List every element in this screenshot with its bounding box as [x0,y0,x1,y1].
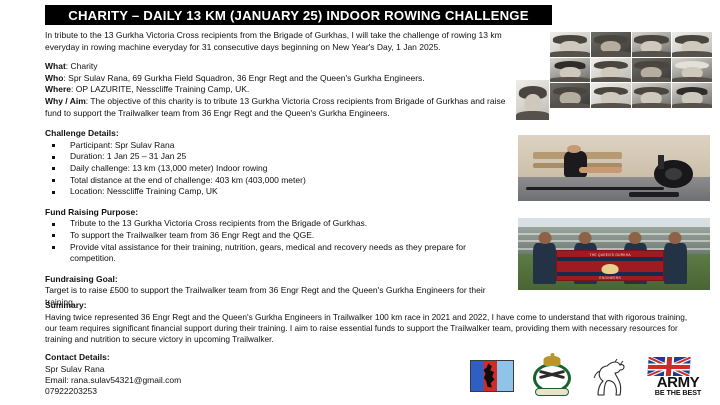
athlete-legs [579,167,621,173]
invicta-white-horse-icon [588,358,630,398]
vc-portrait [550,83,590,108]
page-title: CHARITY – DAILY 13 KM (JANUARY 25) INDOO… [45,5,552,25]
vc-portrait [672,58,712,83]
flag-crest-icon [602,264,619,274]
list-item: Participant: Spr Sulav Rana [45,140,513,152]
vc-recipients-collage-photo [516,32,712,120]
fund-raising-purpose-list: Tribute to the 13 Gurkha Victoria Cross … [45,218,513,264]
summary-heading: Summary: [45,300,690,312]
fact-where: Where: OP LAZURITE, Nesscliffe Training … [45,84,513,96]
athlete-torso [564,151,587,177]
indoor-rowing-photo [518,135,710,201]
fact-what-value: Charity [71,61,98,71]
list-item: Duration: 1 Jan 25 – 31 Jan 25 [45,151,513,163]
flag-text-bottom: ENGINEERS [599,276,620,280]
main-text-column: In tribute to the 13 Gurkha Victoria Cro… [45,30,513,308]
british-army-logo: ARMY BE THE BEST [642,357,714,399]
vc-portrait [591,32,631,57]
fundraising-goal-heading: Fundraising Goal: [45,274,513,286]
vc-portrait [550,58,590,83]
challenge-details-list: Participant: Spr Sulav Rana Duration: 1 … [45,140,513,198]
crest-scroll [535,388,569,396]
uk-map-icon [470,360,514,392]
fact-list: What: Charity Who: Spr Sulav Rana, 69 Gu… [45,61,513,119]
list-item: Daily challenge: 13 km (13,000 meter) In… [45,163,513,175]
fact-why-aim: Why / Aim: The objective of this charity… [45,96,513,119]
fact-where-label: Where [45,84,71,94]
vc-portrait [672,83,712,108]
fact-what-label: What [45,61,66,71]
intro-paragraph: In tribute to the 13 Gurkha Victoria Cro… [45,30,513,53]
vc-portrait [672,32,712,57]
team-member [664,243,687,285]
flag-text-top: THE QUEEN'S GURKHA [590,253,631,257]
vc-portrait [632,58,672,83]
challenge-details-heading: Challenge Details: [45,128,513,140]
qge-flag: THE QUEEN'S GURKHA ENGINEERS [556,250,664,282]
fund-raising-purpose-heading: Fund Raising Purpose: [45,207,513,219]
vc-portrait [591,58,631,83]
list-item: Location: Nesscliffe Training Camp, UK [45,186,513,198]
army-tagline: BE THE BEST [642,389,714,397]
shoulders-shape [516,111,549,120]
document-page: CHARITY – DAILY 13 KM (JANUARY 25) INDOO… [0,0,720,405]
rower-handle [658,155,664,170]
flag-stripe-top [557,257,663,261]
list-item: Provide vital assistance for their train… [45,242,513,265]
spacer [45,119,513,128]
summary-text: Having twice represented 36 Engr Regt an… [45,312,690,346]
spacer [45,198,513,207]
uk-landmass-shape [482,363,496,388]
summary-section: Summary: Having twice represented 36 Eng… [45,300,690,345]
queens-gurkha-engineers-crest-icon [530,356,574,398]
team-member [533,243,556,285]
vc-portrait [632,83,672,108]
vc-portrait [550,32,590,57]
contact-details-heading: Contact Details: [45,352,345,364]
vc-portrait [516,80,549,120]
list-item: Tribute to the 13 Gurkha Victoria Cross … [45,218,513,230]
contact-email[interactable]: Email: rana.sulav54321@gmail.com [45,375,345,386]
contact-name: Spr Sulav Rana [45,364,345,375]
contact-details-section: Contact Details: Spr Sulav Rana Email: r… [45,352,345,398]
spacer [45,265,513,274]
footer-logo-row: ARMY BE THE BEST [470,356,715,400]
fact-who: Who: Spr Sulav Rana, 69 Gurkha Field Squ… [45,73,513,85]
list-item: To support the Trailwalker team from 36 … [45,230,513,242]
vc-portrait [632,32,672,57]
vc-portrait-grid [550,32,712,108]
list-item: Total distance at the end of challenge: … [45,175,513,187]
fact-why-aim-label: Why / Aim [45,96,86,106]
trailwalker-team-photo: THE QUEEN'S GURKHA ENGINEERS [518,218,710,290]
crest-crown [544,356,561,366]
vc-portrait [591,83,631,108]
rower-rail [526,187,664,191]
fact-who-value: Spr Sulav Rana, 69 Gurkha Field Squadron… [68,73,424,83]
fact-who-label: Who [45,73,63,83]
contact-phone: 07922203253 [45,386,345,397]
rower-frame-leg [629,192,679,197]
fact-where-value: OP LAZURITE, Nesscliffe Training Camp, U… [76,84,250,94]
fact-why-aim-value: The objective of this charity is to trib… [45,96,505,118]
fact-what: What: Charity [45,61,513,73]
